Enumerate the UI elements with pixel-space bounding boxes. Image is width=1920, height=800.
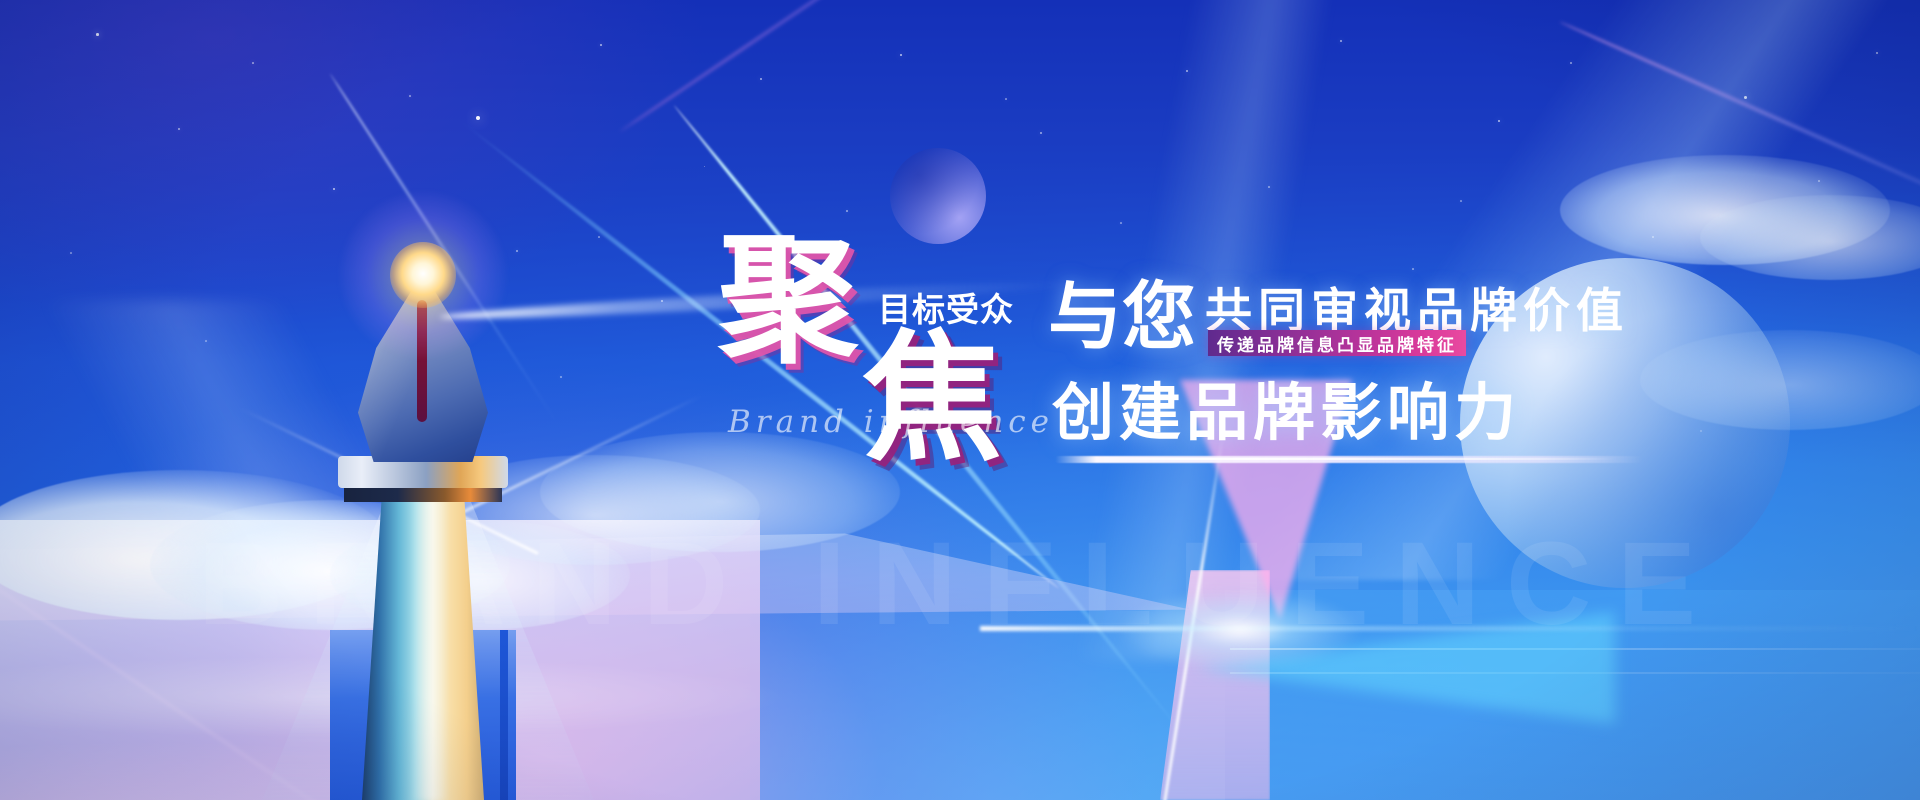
- script-brand-influence: Brand influence: [728, 404, 1054, 440]
- headline-char-jiao: 焦: [862, 330, 1002, 470]
- tagline-target-audience: 目标受众: [878, 283, 1014, 331]
- brand-banner: BRAND INFLUENCE 聚 焦 目标受众 Brand influence…: [0, 0, 1920, 800]
- headline-brand-value: 共同审视品牌价值: [1205, 288, 1629, 335]
- lead-in-text: 与您: [1048, 280, 1196, 354]
- headline-char-ju: 聚: [718, 232, 858, 372]
- headline-underline-core: [1075, 458, 1615, 460]
- headline-build-influence: 创建品牌影响力: [1052, 382, 1521, 444]
- headline-group: 聚 焦 目标受众 Brand influence 与您 共同审视品牌价值 传递品…: [0, 0, 1920, 800]
- subtitle-badge-text: 传递品牌信息凸显品牌特征: [1217, 331, 1457, 356]
- subtitle-badge-bar: 传递品牌信息凸显品牌特征: [1208, 330, 1466, 356]
